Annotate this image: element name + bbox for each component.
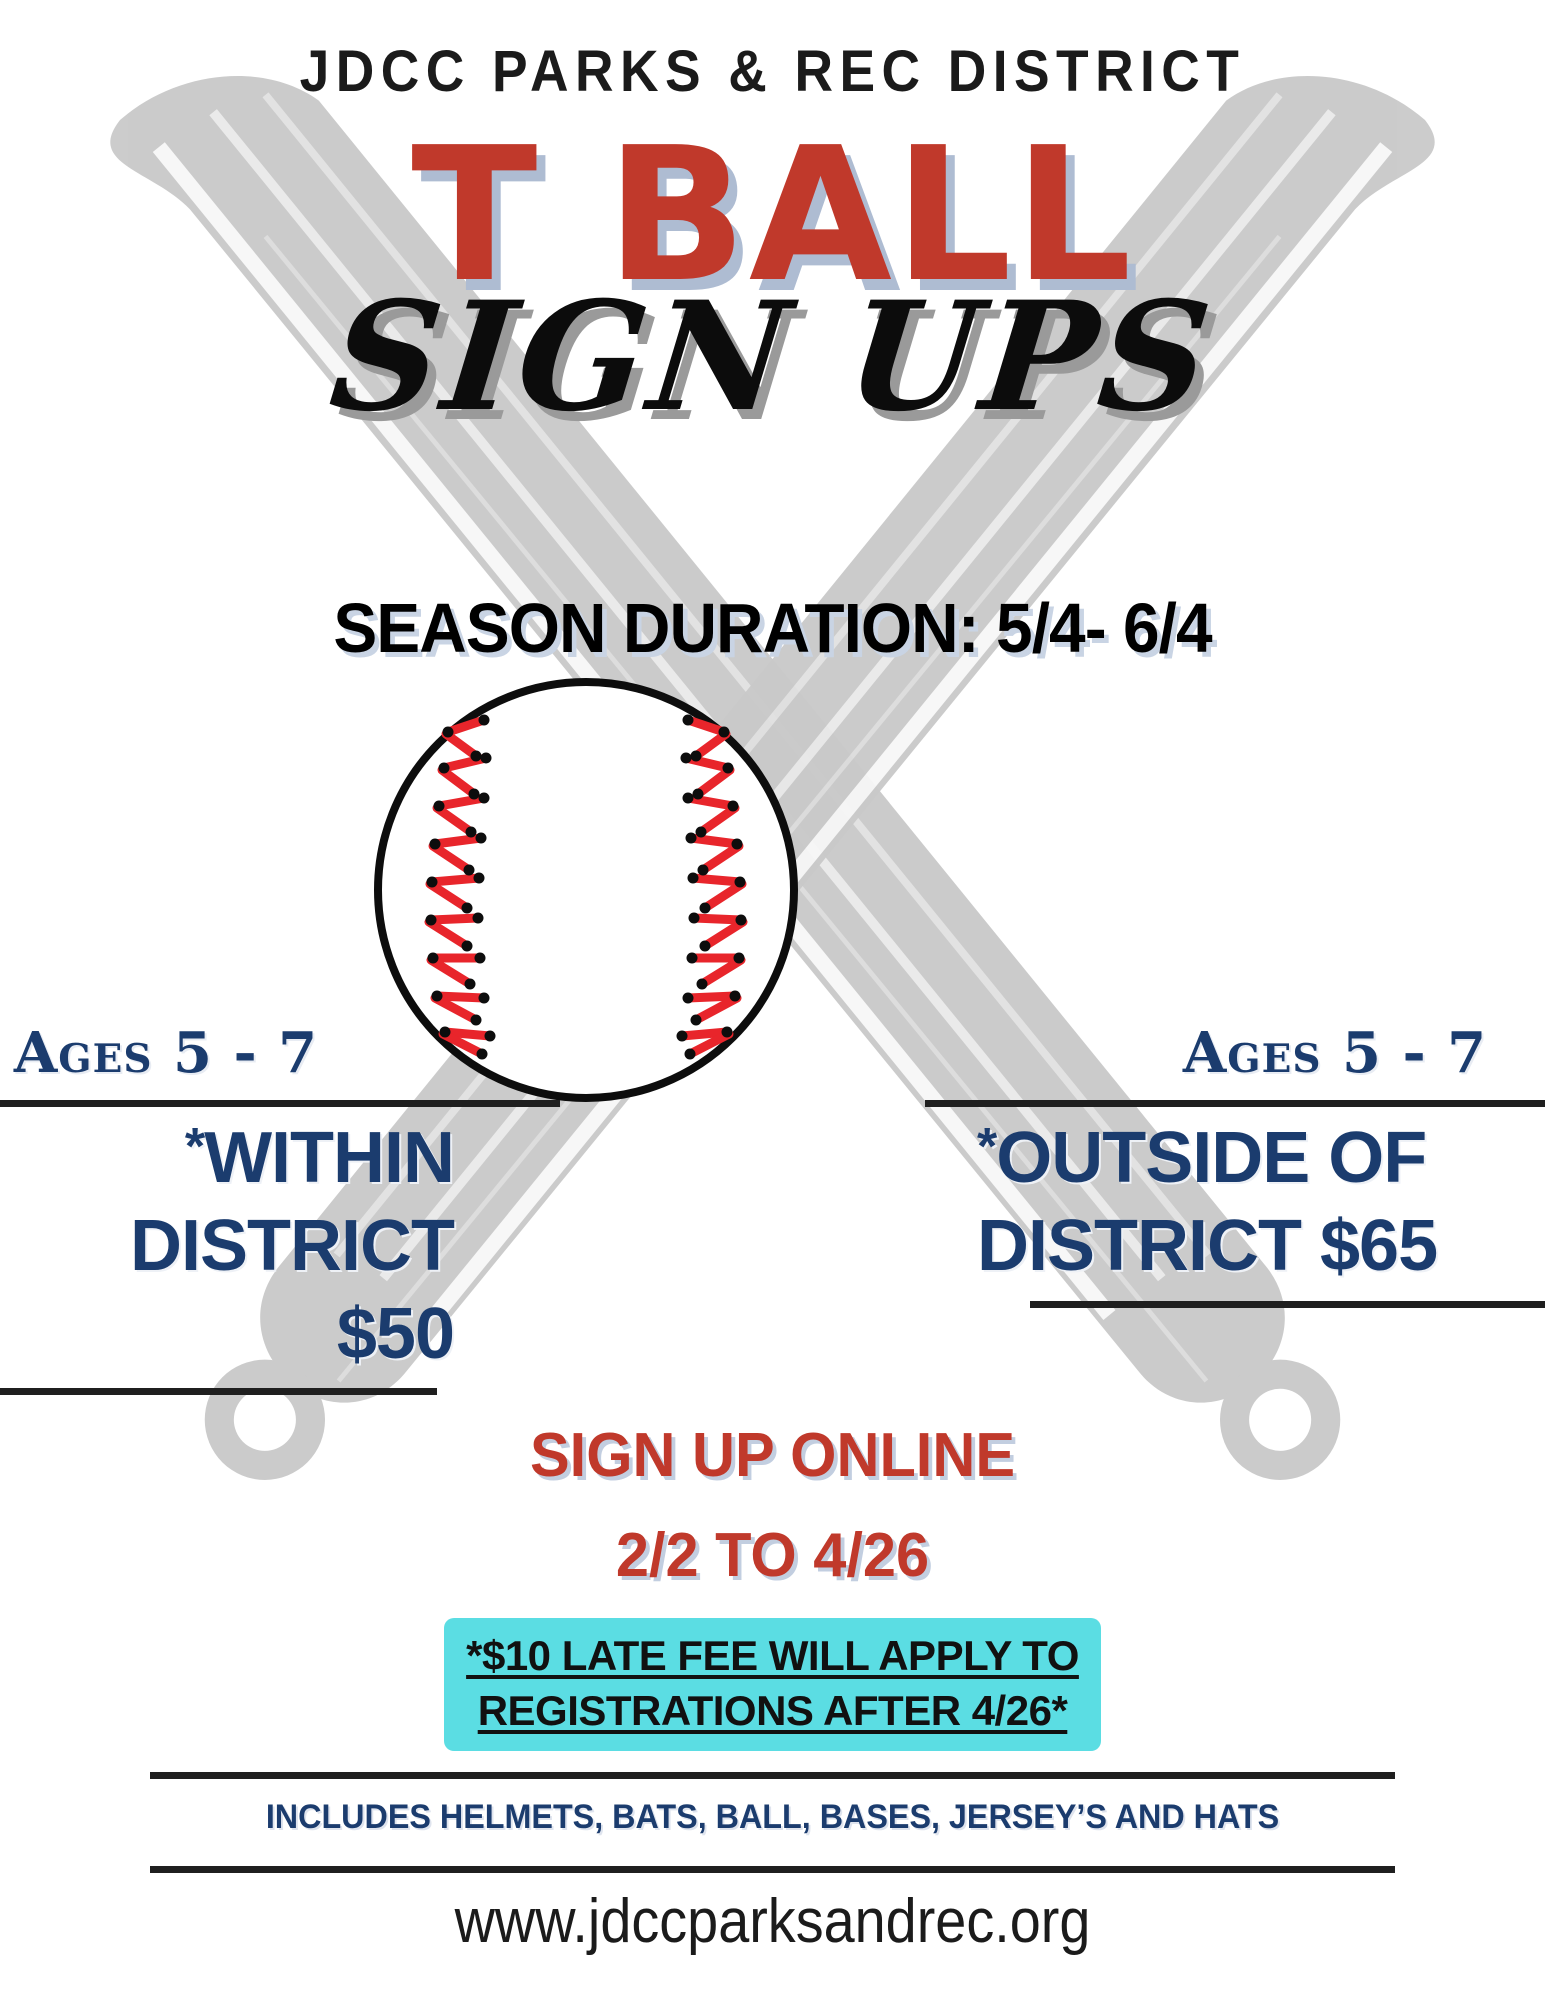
flyer-page: JDCC PARKS & REC DISTRICT T BALL SIGN UP… [0,0,1545,2000]
asterisk-right: * [977,1118,996,1176]
price-line-right-1: *OUTSIDE OF [925,1115,1545,1203]
price-scope-left: WITHIN [204,1118,454,1198]
divider-left-bottom [0,1388,437,1395]
hero-subtitle-signups: SIGN UPS [0,282,1545,432]
late-fee-line-2: REGISTRATIONS AFTER 4/26* [478,1687,1068,1734]
signup-date-range: 2/2 TO 4/26 [31,1520,1514,1591]
page-title: JDCC PARKS & REC DISTRICT [62,38,1483,105]
price-amount-left: DISTRICT $50 [0,1203,560,1379]
website-url[interactable]: www.jdccparksandrec.org [77,1886,1468,1957]
late-fee-highlight-box: *$10 LATE FEE WILL APPLY TO REGISTRATION… [444,1618,1101,1751]
price-scope-right: OUTSIDE OF [996,1118,1426,1198]
pricing-column-outside-district: Ages 5 - 7 *OUTSIDE OF DISTRICT $65 [925,1020,1545,1316]
late-fee-notice: *$10 LATE FEE WILL APPLY TO REGISTRATION… [0,1618,1545,1751]
signup-online-headline: SIGN UP ONLINE [31,1420,1514,1491]
late-fee-line-1: *$10 LATE FEE WILL APPLY TO [466,1632,1079,1679]
price-line-left-1: *WITHIN [0,1115,560,1203]
divider-right-bottom [1030,1301,1545,1308]
season-duration-text: SEASON DURATION: 5/4- 6/4 [46,588,1498,668]
divider-below-includes [150,1866,1395,1873]
divider-left-top [0,1100,560,1107]
divider-right-top [925,1100,1545,1107]
price-amount-right: DISTRICT $65 [925,1203,1545,1291]
ages-label-left: Ages 5 - 7 [0,1020,560,1086]
asterisk-left: * [185,1118,204,1176]
ages-label-right: Ages 5 - 7 [925,1020,1545,1086]
includes-equipment-text: INCLUDES HELMETS, BATS, BALL, BASES, JER… [39,1798,1507,1837]
pricing-column-within-district: Ages 5 - 7 *WITHIN DISTRICT $50 [0,1020,560,1403]
divider-above-includes [150,1772,1395,1779]
